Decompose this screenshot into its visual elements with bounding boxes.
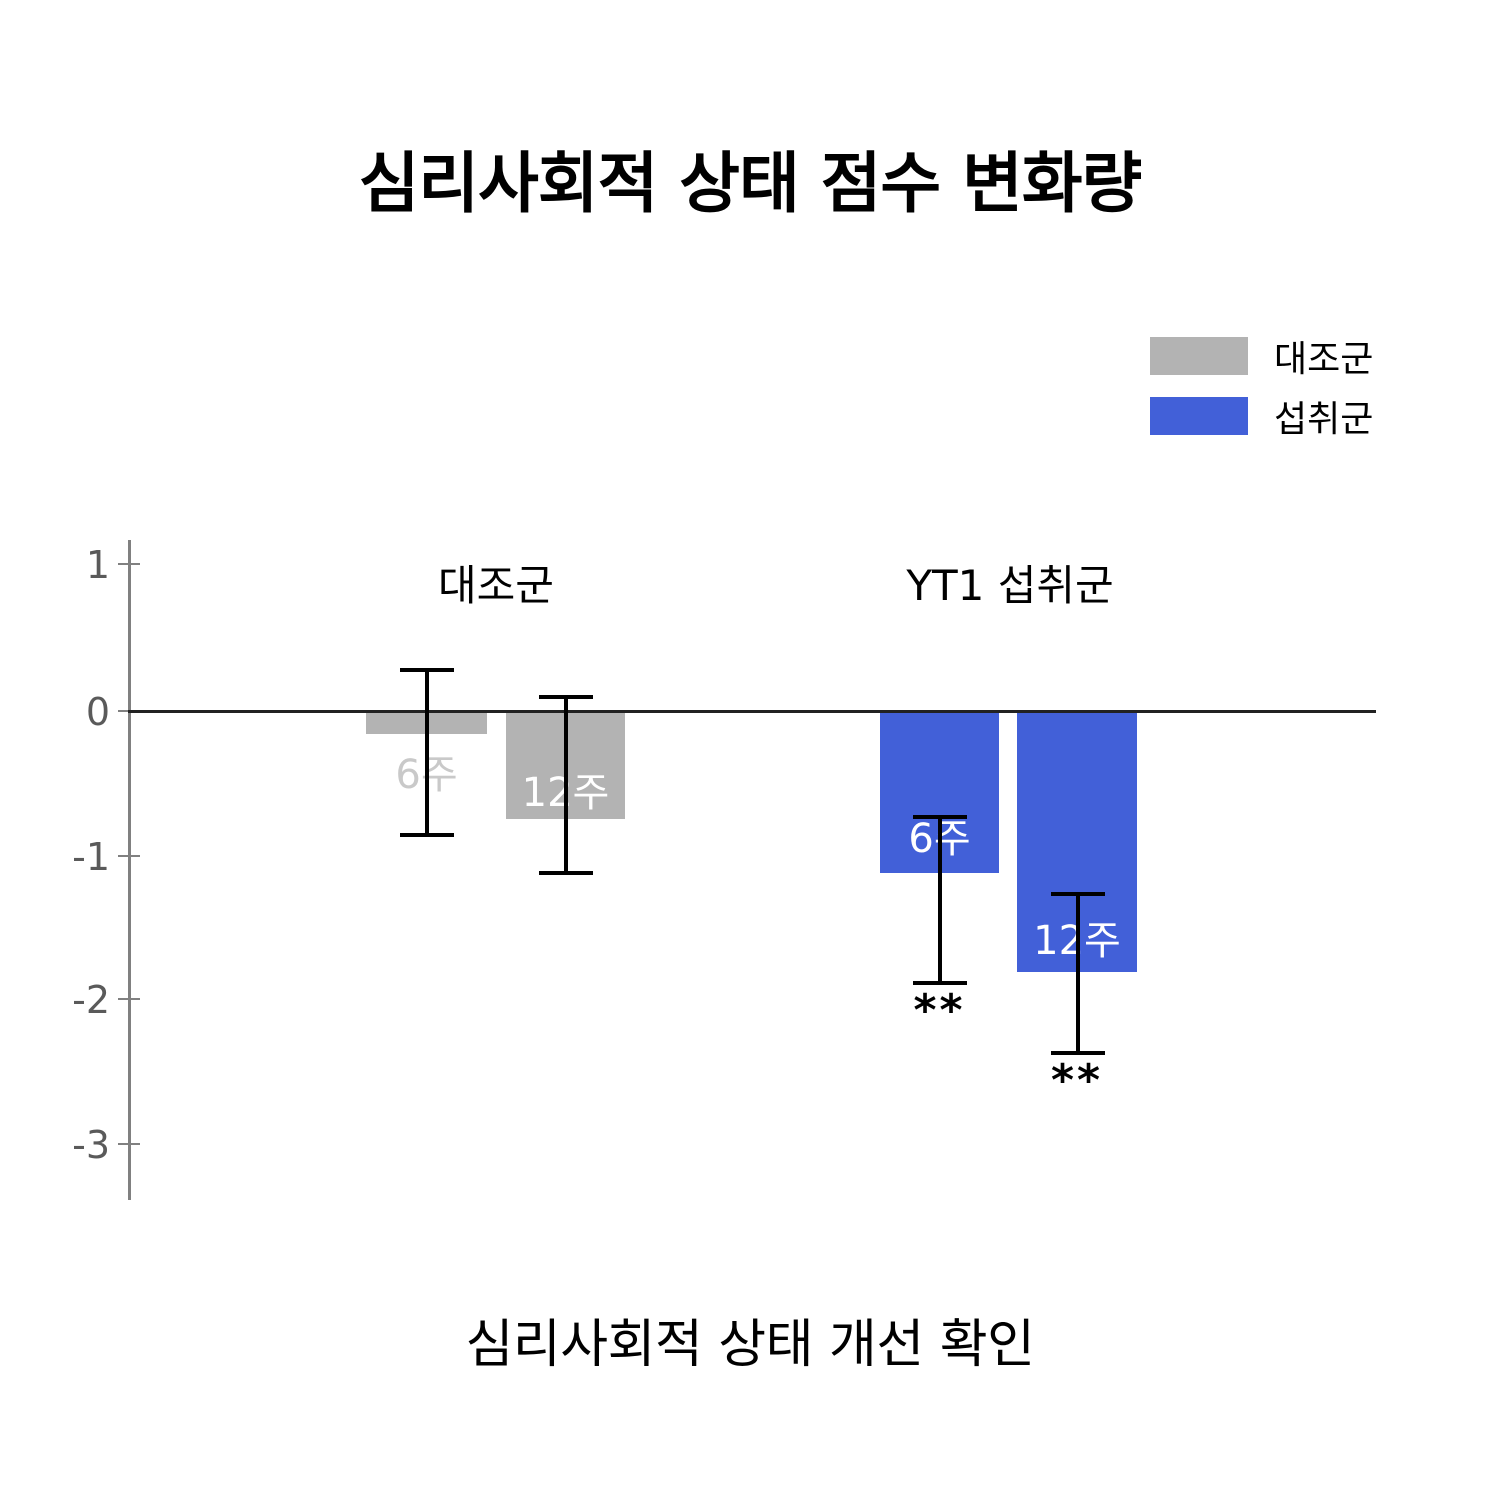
group-label-control: 대조군	[366, 552, 626, 613]
error-cap-bottom-control-6w	[400, 833, 454, 837]
plot-area: 1 0 -1 -2 -3 대조군 YT1 섭취군 6주 12주 6주 12주 *…	[0, 0, 1500, 1500]
y-axis-line	[128, 540, 131, 1200]
error-cap-bottom-control-12w	[539, 871, 593, 875]
zero-baseline	[128, 710, 1376, 713]
y-tick-label-1: 1	[40, 543, 110, 587]
error-cap-top-treatment-6w	[913, 815, 967, 819]
y-tick-1	[118, 563, 140, 565]
error-bar-control-6w	[425, 668, 429, 837]
chart-footer: 심리사회적 상태 개선 확인	[0, 1302, 1500, 1377]
error-bar-treatment-12w	[1076, 892, 1080, 1055]
y-tick-label-minus2: -2	[40, 978, 110, 1022]
error-cap-top-control-12w	[539, 695, 593, 699]
y-tick-label-0: 0	[40, 690, 110, 734]
y-tick-minus1	[118, 855, 140, 857]
error-bar-treatment-6w	[938, 815, 942, 985]
y-tick-label-minus1: -1	[40, 835, 110, 879]
y-tick-minus3	[118, 1143, 140, 1145]
chart-page: 심리사회적 상태 점수 변화량 대조군 섭취군 1 0 -1 -2 -3 대조군…	[0, 0, 1500, 1500]
significance-treatment-6w: **	[880, 985, 999, 1036]
y-tick-label-minus3: -3	[40, 1123, 110, 1167]
error-cap-top-control-6w	[400, 668, 454, 672]
error-cap-top-treatment-12w	[1051, 892, 1105, 896]
error-bar-control-12w	[564, 695, 568, 875]
y-tick-minus2	[118, 998, 140, 1000]
group-label-treatment: YT1 섭취군	[880, 552, 1140, 613]
significance-treatment-12w: **	[1017, 1055, 1137, 1106]
